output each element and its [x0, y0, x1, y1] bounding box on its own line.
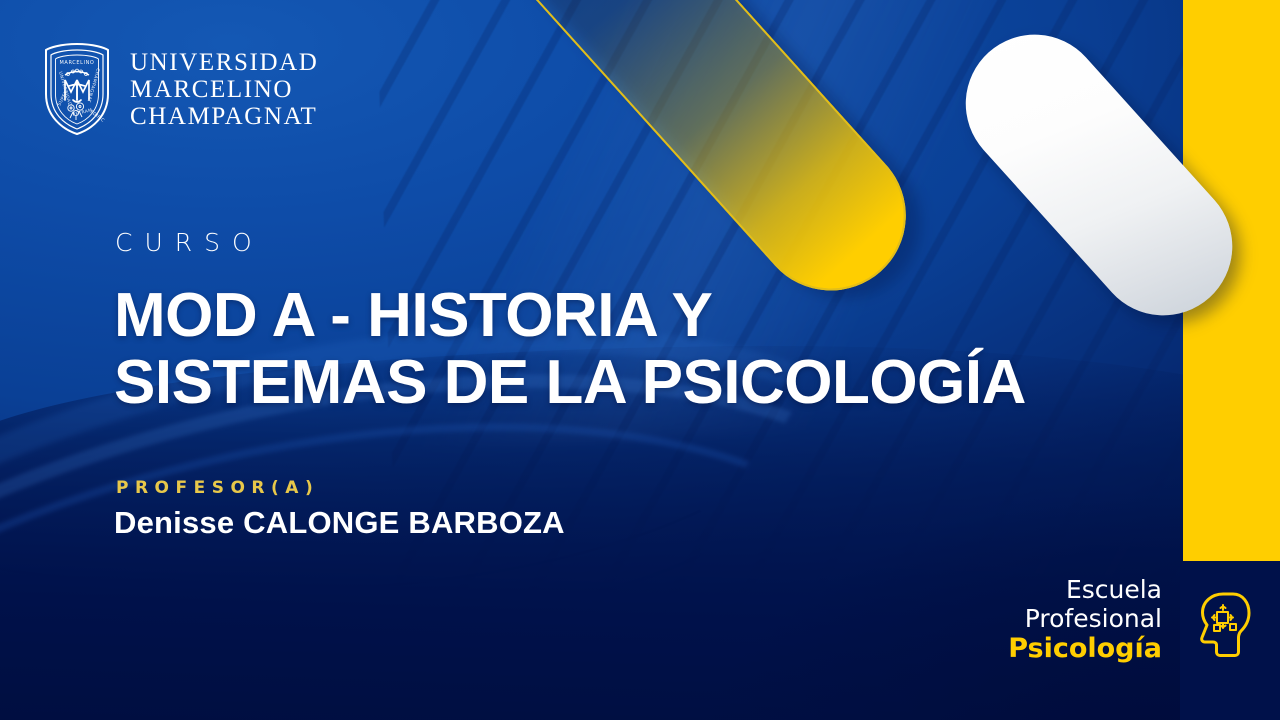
professor-name: Denisse CALONGE BARBOZA — [114, 505, 565, 541]
professor-given-name: Denisse — [114, 505, 234, 540]
head-puzzle-icon — [1190, 588, 1252, 660]
background-corner-dark — [435, 389, 1280, 720]
school-badge-line-3: Psicología — [1008, 633, 1162, 664]
course-title-slide: MARCELINO UNIVERSIDAD CHAMPAGNAT SUPER P… — [0, 0, 1280, 720]
white-pill-over-yellow — [1183, 6, 1261, 344]
school-badge: Escuela Profesional Psicología — [1008, 575, 1162, 664]
svg-text:MARCELINO: MARCELINO — [60, 60, 95, 66]
course-eyebrow-label: CURSO — [115, 228, 264, 257]
course-title: MOD A - HISTORIA Y SISTEMAS DE LA PSICOL… — [114, 283, 1114, 417]
university-shield-icon: MARCELINO UNIVERSIDAD CHAMPAGNAT SUPER P… — [40, 42, 114, 136]
university-name-line-1: UNIVERSIDAD — [130, 49, 318, 76]
course-title-line-2: SISTEMAS DE LA PSICOLOGÍA — [114, 350, 1114, 417]
course-title-line-1: MOD A - HISTORIA Y — [114, 283, 1114, 350]
white-pill-over-yellow-clip — [1183, 0, 1280, 561]
university-name-line-2: MARCELINO — [130, 76, 318, 103]
professor-label: PROFESOR(A) — [116, 478, 319, 498]
university-name-line-3: CHAMPAGNAT — [130, 103, 318, 130]
university-logo: MARCELINO UNIVERSIDAD CHAMPAGNAT SUPER P… — [40, 42, 318, 136]
school-badge-line-2: Profesional — [1008, 604, 1162, 633]
professor-surnames: CALONGE BARBOZA — [243, 505, 565, 540]
school-badge-line-1: Escuela — [1008, 575, 1162, 604]
university-name: UNIVERSIDAD MARCELINO CHAMPAGNAT — [130, 49, 318, 130]
